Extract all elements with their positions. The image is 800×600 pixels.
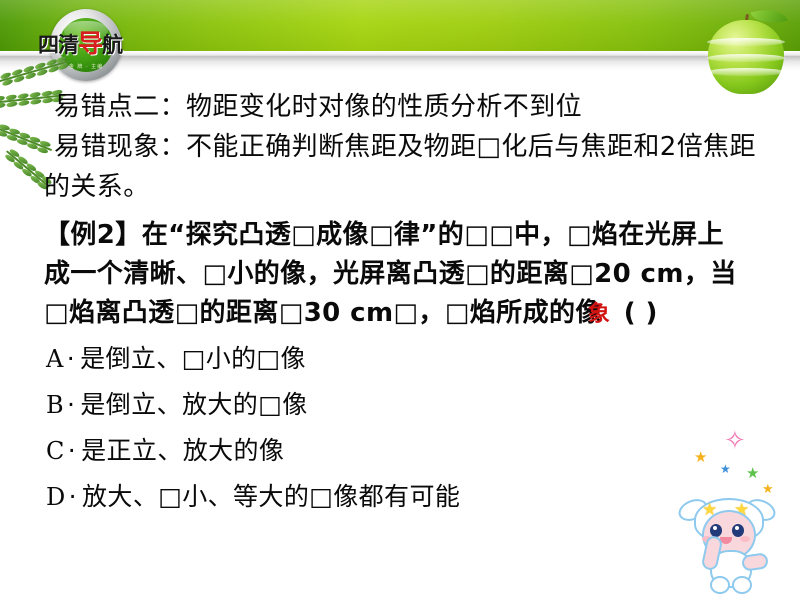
option-a-letter: A [46,345,64,373]
slide-canvas: 金 牌 · 主编 四清导航 [0,0,800,600]
example-line-3-text: □焰离凸透□的距离□30 cm□，□焰所成的像 [44,298,602,328]
mascot-cheek-icon [740,536,750,542]
star-icon: ★ [694,450,707,465]
option-c-separator: · [68,436,76,465]
option-a-text: 是倒立、□小的□像 [80,344,306,373]
red-correction-mark: 象 [588,302,610,327]
star-icon: ★ [720,462,731,477]
mascot-arm-icon [741,552,769,571]
option-c[interactable]: C·是正立、放大的像 [46,436,284,466]
sparkle-burst-icon: ✧ [724,428,746,454]
option-c-text: 是正立、放大的像 [81,436,284,465]
mascot-eye-icon [732,524,744,537]
option-b-letter: B [46,391,64,419]
example-line-3: □焰离凸透□的距离□30 cm□，□焰所成的像象( ) [44,298,658,330]
option-b-text: 是倒立、放大的□像 [80,390,307,419]
phenomenon-line-1: 易错现象：不能正确判断焦距及物距□化后与焦距和2倍焦距 [54,132,756,162]
option-d-text: 放大、□小、等大的□像都有可能 [82,482,460,511]
option-a-separator: · [67,344,75,373]
mascot-leg-icon [732,576,752,594]
option-d[interactable]: D·放大、□小、等大的□像都有可能 [46,482,460,512]
option-b-separator: · [67,390,75,419]
example-line-2: 成一个清晰、□小的像，光屏离凸透□的距离□20 cm，当 [44,259,737,289]
star-icon: ★ [762,482,774,497]
example-line-1: 【例2】在“探究凸透□成像□律”的□□中，□焰在光屏上 [44,220,724,250]
mascot-eye-icon [710,524,722,537]
star-icon: ★ [746,466,759,481]
option-c-letter: C [46,437,65,465]
example-answer-blank: ( ) [624,298,658,328]
phenomenon-line-2: 的关系。 [44,172,150,202]
option-b[interactable]: B·是倒立、放大的□像 [46,390,308,420]
mascot-leg-icon [710,576,730,594]
option-a[interactable]: A·是倒立、□小的□像 [46,344,306,374]
mascot-decoration: ✧ ★ ★ ★ ★ ★ ★ ★ [680,424,800,600]
heading-line: 易错点二：物距变化时对像的性质分析不到位 [54,92,582,122]
option-d-separator: · [69,482,77,511]
option-d-letter: D [46,483,66,511]
